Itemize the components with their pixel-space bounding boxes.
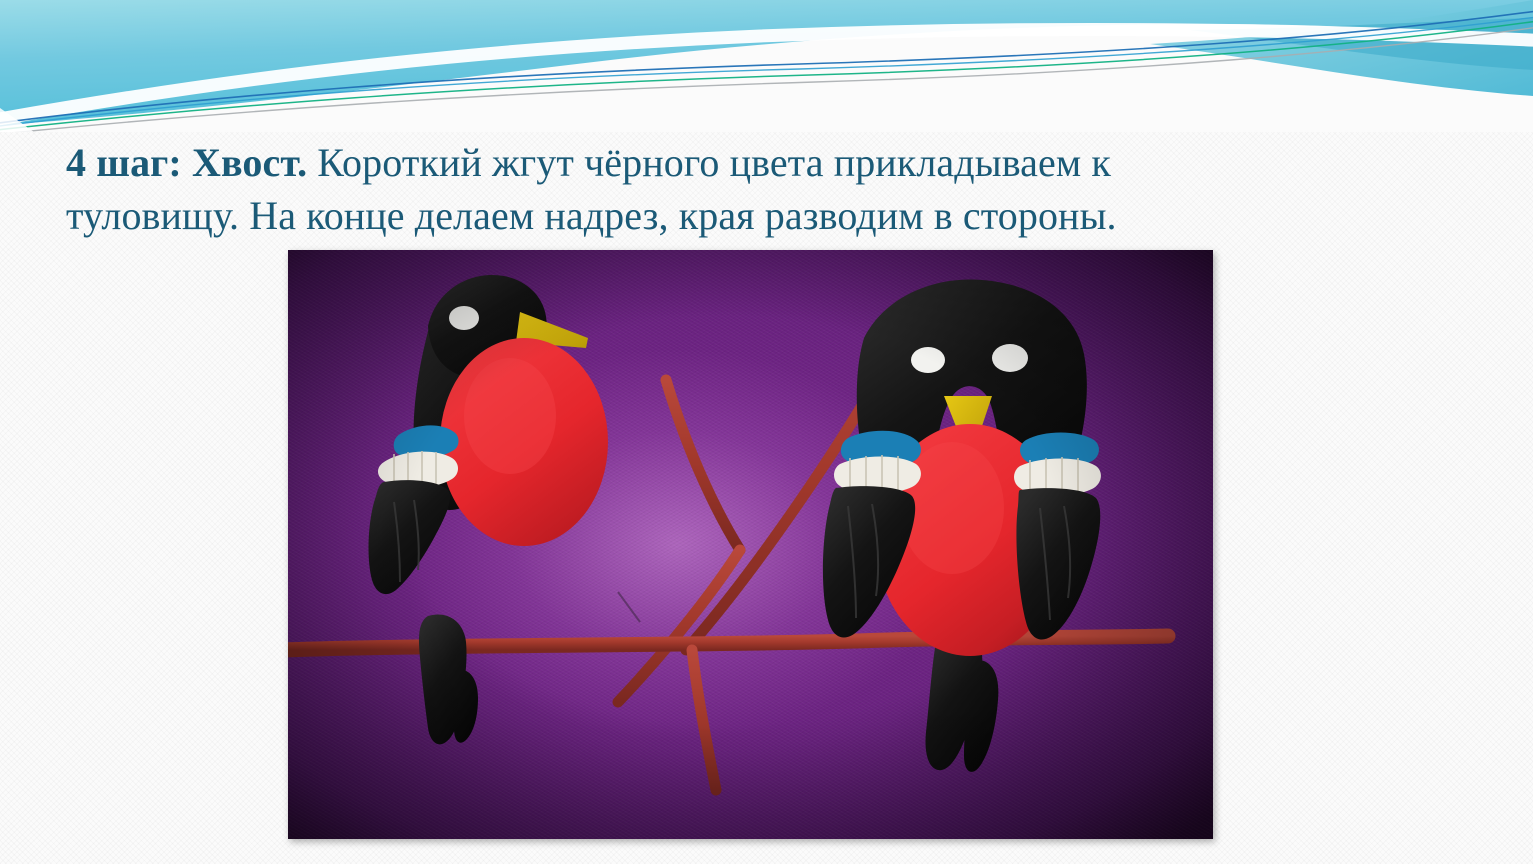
- right-bird-right-wing-tip: [1016, 488, 1100, 639]
- decorative-wave-banner: [0, 0, 1533, 132]
- left-bird-belly-highlight: [464, 358, 556, 474]
- right-bird-eye-right: [992, 344, 1028, 372]
- page-title: 4 шаг: Хвост. Короткий жгут чёрного цвет…: [66, 136, 1456, 242]
- lower-hanging-branch: [692, 650, 716, 790]
- lower-left-diagonal-branch: [618, 550, 740, 702]
- title-line-1-rest: Короткий жгут чёрного цвета прикладываем…: [307, 140, 1111, 185]
- plasticine-bullfinches-photo: [288, 250, 1213, 839]
- right-bird-eye-left: [911, 347, 945, 373]
- presentation-slide: 4 шаг: Хвост. Короткий жгут чёрного цвет…: [0, 0, 1533, 864]
- title-step-label: 4 шаг: Хвост.: [66, 140, 307, 185]
- right-bird-belly-highlight: [900, 442, 1004, 574]
- left-bird-tail: [419, 614, 478, 744]
- left-bullfinch: [369, 275, 608, 744]
- left-bird-eye: [449, 306, 479, 330]
- background-scuff-mark: [618, 592, 640, 622]
- title-line-2: туловищу. На конце делаем надрез, края р…: [66, 189, 1456, 242]
- left-bird-wing-tip: [369, 480, 451, 594]
- upper-left-diagonal-branch: [666, 380, 740, 550]
- title-line-1: 4 шаг: Хвост. Короткий жгут чёрного цвет…: [66, 136, 1456, 189]
- right-bullfinch: [823, 280, 1101, 772]
